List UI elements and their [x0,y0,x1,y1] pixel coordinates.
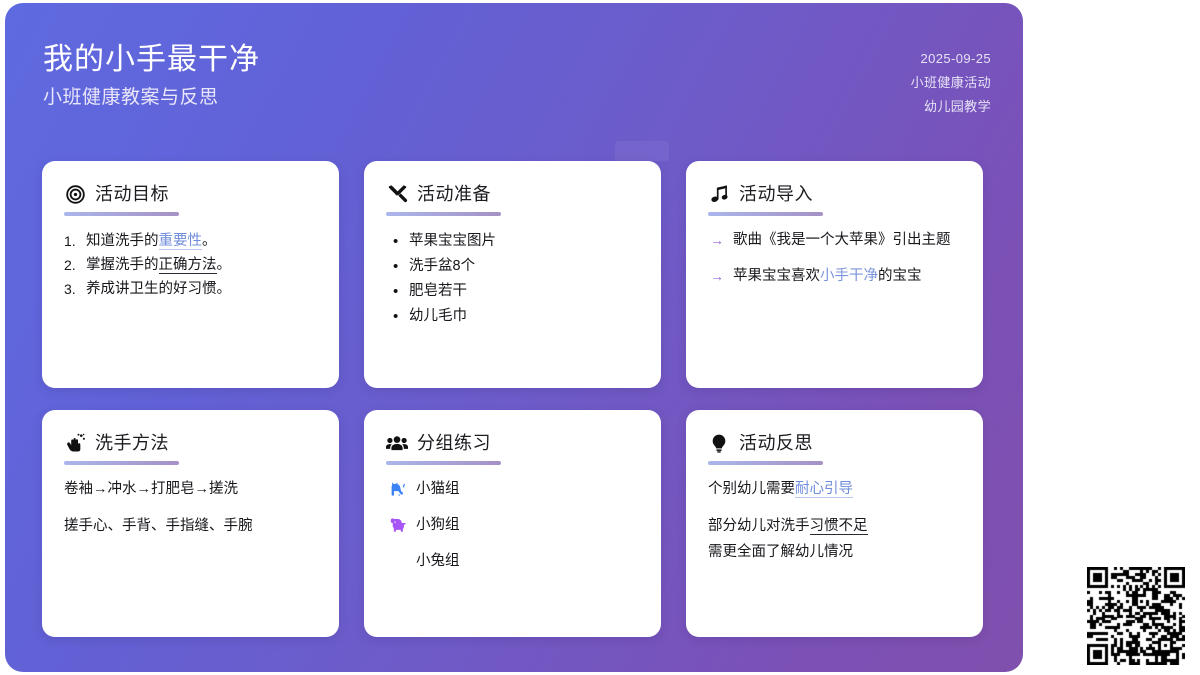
card-introduction: 活动导入歌曲《我是一个大苹果》引出主题苹果宝宝喜欢小手干净的宝宝 [686,161,983,388]
bulleted-list: 苹果宝宝图片洗手盆8个肥皂若干幼儿毛巾 [386,229,639,329]
text-segment: 知道洗手的 [86,233,159,249]
text-segment: 洗手盆8个 [409,258,475,274]
text-segment: 搓手心、手背、手指缝、手腕 [64,518,253,534]
group-list: 小猫组 小狗组小兔组 [386,478,639,572]
highlighted-text: 重要性 [159,233,203,250]
text-line: 需更全面了解幼儿情况 [708,541,961,564]
slide-root: 我的小手最干净 小班健康教案与反思 2025-09-25 小班健康活动 幼儿园教… [0,0,1200,675]
text-segment: 肥皂若干 [409,283,467,299]
card-title: 分组练习 [417,432,491,454]
qr-code [1087,567,1185,665]
card-title: 洗手方法 [95,432,169,454]
text-line: 部分幼儿对洗手习惯不足 [708,515,961,538]
text-line: 个别幼儿需要耐心引导 [708,478,961,501]
decorative-block [615,141,669,161]
card-groups: 分组练习 小猫组 小狗组小兔组 [364,410,661,637]
list-item: 小兔组 [386,550,639,572]
list-item: 幼儿毛巾 [386,304,639,329]
text-segment: 卷袖→冲水→打肥皂→搓洗 [64,481,238,497]
card-header: 活动目标 [64,183,317,205]
target-icon [64,183,86,205]
text-segment: 需更全面了解幼儿情况 [708,544,853,560]
header-meta: 2025-09-25 小班健康活动 幼儿园教学 [911,47,991,119]
text-line: 卷袖→冲水→打肥皂→搓洗 [64,478,317,501]
card-preparation: 活动准备苹果宝宝图片洗手盆8个肥皂若干幼儿毛巾 [364,161,661,388]
tools-icon [386,183,408,205]
list-item: 小狗组 [386,514,639,536]
list-item: 歌曲《我是一个大苹果》引出主题 [708,229,961,252]
text-segment: 部分幼儿对洗手 [708,518,810,534]
card-method: 洗手方法卷袖→冲水→打肥皂→搓洗搓手心、手背、手指缝、手腕 [42,410,339,637]
page-title: 我的小手最干净 [43,41,260,79]
cat-icon [388,480,407,499]
list-item: 养成讲卫生的好习惯。 [64,277,317,301]
list-item: 小猫组 [386,478,639,500]
card-accent-rule [386,212,501,216]
highlighted-text: 习惯不足 [810,518,868,535]
text-segment: 苹果宝宝喜欢 [733,268,820,284]
text-segment: 幼儿毛巾 [409,308,467,324]
card-header: 活动反思 [708,432,961,454]
text-segment: 。 [217,257,232,273]
none [388,552,407,571]
card-title: 活动导入 [739,183,813,205]
meta-source: 幼儿园教学 [911,95,991,119]
highlighted-text: 小手干净 [820,268,878,284]
card-body: 小猫组 小狗组小兔组 [386,478,639,572]
highlighted-text: 正确方法 [159,257,217,274]
card-body: 知道洗手的重要性。掌握洗手的正确方法。养成讲卫生的好习惯。 [64,229,317,301]
text-segment: 个别幼儿需要 [708,481,795,497]
list-item: 肥皂若干 [386,279,639,304]
group-label: 小兔组 [416,550,460,572]
presentation-slide: 我的小手最干净 小班健康教案与反思 2025-09-25 小班健康活动 幼儿园教… [5,3,1023,672]
card-accent-rule [64,461,179,465]
group-label: 小狗组 [416,514,460,536]
text-segment: 掌握洗手的 [86,257,159,273]
card-objectives: 活动目标知道洗手的重要性。掌握洗手的正确方法。养成讲卫生的好习惯。 [42,161,339,388]
card-body: 个别幼儿需要耐心引导部分幼儿对洗手习惯不足需更全面了解幼儿情况 [708,478,961,564]
text-segment: 养成讲卫生的好习惯。 [86,281,231,297]
card-header: 活动准备 [386,183,639,205]
card-reflection: 活动反思个别幼儿需要耐心引导部分幼儿对洗手习惯不足需更全面了解幼儿情况 [686,410,983,637]
card-header: 洗手方法 [64,432,317,454]
card-title: 活动准备 [417,183,491,205]
text-segment: 的宝宝 [878,268,922,284]
page-subtitle: 小班健康教案与反思 [43,85,260,111]
text-line: 搓手心、手背、手指缝、手腕 [64,515,317,538]
card-header: 分组练习 [386,432,639,454]
text-segment: 歌曲《我是一个大苹果》引出主题 [733,232,951,248]
numbered-list: 知道洗手的重要性。掌握洗手的正确方法。养成讲卫生的好习惯。 [64,229,317,301]
card-body: 苹果宝宝图片洗手盆8个肥皂若干幼儿毛巾 [386,229,639,329]
people-group-icon [386,432,408,454]
dog-icon [388,516,407,535]
list-item: 苹果宝宝喜欢小手干净的宝宝 [708,265,961,288]
washing-hands-icon [64,432,86,454]
card-title: 活动目标 [95,183,169,205]
card-accent-rule [708,461,823,465]
title-block: 我的小手最干净 小班健康教案与反思 [43,41,260,111]
card-accent-rule [64,212,179,216]
highlighted-text: 耐心引导 [795,481,853,498]
list-item: 苹果宝宝图片 [386,229,639,254]
list-item: 洗手盆8个 [386,254,639,279]
music-note-icon [708,183,730,205]
list-item: 掌握洗手的正确方法。 [64,253,317,277]
group-label: 小猫组 [416,478,460,500]
arrow-list: 歌曲《我是一个大苹果》引出主题苹果宝宝喜欢小手干净的宝宝 [708,229,961,288]
card-header: 活动导入 [708,183,961,205]
meta-category: 小班健康活动 [911,71,991,95]
card-title: 活动反思 [739,432,813,454]
card-body: 卷袖→冲水→打肥皂→搓洗搓手心、手背、手指缝、手腕 [64,478,317,538]
slide-header: 我的小手最干净 小班健康教案与反思 2025-09-25 小班健康活动 幼儿园教… [5,3,1023,143]
card-accent-rule [708,212,823,216]
card-accent-rule [386,461,501,465]
card-body: 歌曲《我是一个大苹果》引出主题苹果宝宝喜欢小手干净的宝宝 [708,229,961,288]
text-segment: 。 [202,233,217,249]
list-item: 知道洗手的重要性。 [64,229,317,253]
text-segment: 苹果宝宝图片 [409,233,496,249]
meta-date: 2025-09-25 [911,47,991,71]
card-grid: 活动目标知道洗手的重要性。掌握洗手的正确方法。养成讲卫生的好习惯。 活动准备苹果… [42,161,988,637]
lightbulb-icon [708,432,730,454]
